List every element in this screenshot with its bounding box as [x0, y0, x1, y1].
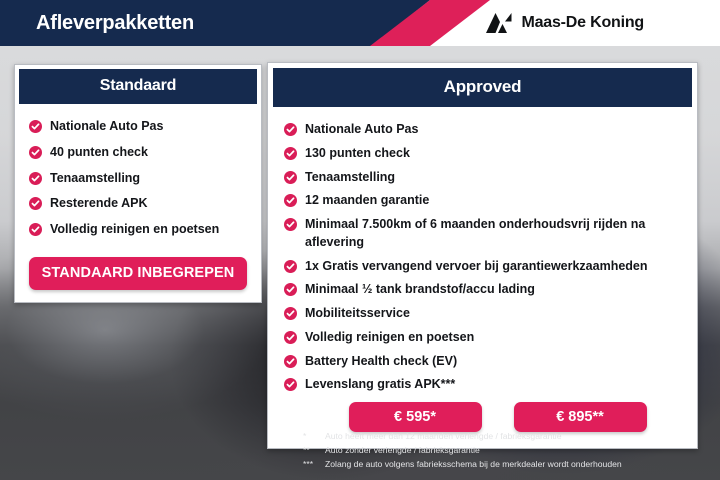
footnote-text: Zolang de auto volgens fabrieksschema bi…: [325, 458, 622, 472]
feature-list-item: Battery Health check (EV): [284, 353, 681, 371]
check-circle-icon: [29, 146, 42, 159]
footnote-row: *Auto heeft meer dan 12 maanden verlengd…: [303, 430, 703, 444]
feature-list-item: Mobiliteitsservice: [284, 305, 681, 323]
feature-label: Minimaal ½ tank brandstof/accu lading: [305, 281, 535, 299]
approved-card-title: Approved: [273, 68, 692, 107]
feature-list-item: Volledig reinigen en poetsen: [29, 221, 247, 239]
footnote-text: Auto heeft meer dan 12 maanden verlengde…: [325, 430, 561, 444]
feature-label: 130 punten check: [305, 145, 410, 163]
page-root: Afleverpakketten Maas-De Koning Standaar…: [0, 0, 720, 480]
check-circle-icon: [284, 171, 297, 184]
footnote-marker: **: [303, 444, 325, 458]
footnotes-block: *Auto heeft meer dan 12 maanden verlengd…: [303, 430, 703, 472]
price-button[interactable]: € 595*: [349, 402, 482, 432]
feature-label: Battery Health check (EV): [305, 353, 457, 371]
check-circle-icon: [284, 283, 297, 296]
feature-label: 40 punten check: [50, 144, 148, 162]
approved-package-card: Approved Nationale Auto Pas130 punten ch…: [267, 62, 698, 449]
check-circle-icon: [284, 378, 297, 391]
footnote-marker: ***: [303, 458, 325, 472]
feature-label: Mobiliteitsservice: [305, 305, 410, 323]
footnote-text: Auto zonder verlengde / fabrieksgarantie: [325, 444, 480, 458]
check-circle-icon: [284, 307, 297, 320]
brand-logo: Maas-De Koning: [486, 0, 644, 46]
check-circle-icon: [284, 218, 297, 231]
standard-included-button[interactable]: STANDAARD INBEGREPEN: [29, 257, 247, 290]
brand-name: Maas-De Koning: [521, 14, 644, 32]
page-title: Afleverpakketten: [36, 0, 194, 46]
footnote-row: ***Zolang de auto volgens fabrieksschema…: [303, 458, 703, 472]
feature-label: Minimaal 7.500km of 6 maanden onderhouds…: [305, 216, 681, 252]
feature-list-item: Minimaal 7.500km of 6 maanden onderhouds…: [284, 216, 681, 252]
feature-list-item: Minimaal ½ tank brandstof/accu lading: [284, 281, 681, 299]
price-button[interactable]: € 895**: [514, 402, 647, 432]
check-circle-icon: [284, 123, 297, 136]
feature-list-item: Resterende APK: [29, 195, 247, 213]
feature-label: Tenaamstelling: [50, 170, 140, 188]
feature-label: Volledig reinigen en poetsen: [50, 221, 219, 239]
feature-list-item: Tenaamstelling: [29, 170, 247, 188]
approved-feature-list: Nationale Auto Pas130 punten checkTenaam…: [284, 121, 681, 394]
standard-card-body: Nationale Auto Pas40 punten checkTenaams…: [15, 104, 261, 302]
feature-list-item: 12 maanden garantie: [284, 192, 681, 210]
footnote-row: **Auto zonder verlengde / fabrieksgarant…: [303, 444, 703, 458]
check-circle-icon: [284, 331, 297, 344]
approved-card-body: Nationale Auto Pas130 punten checkTenaam…: [268, 107, 697, 448]
approved-price-row: € 595*€ 895**: [284, 402, 681, 432]
check-circle-icon: [29, 172, 42, 185]
feature-label: 12 maanden garantie: [305, 192, 429, 210]
feature-label: Volledig reinigen en poetsen: [305, 329, 474, 347]
check-circle-icon: [29, 120, 42, 133]
feature-list-item: 130 punten check: [284, 145, 681, 163]
check-circle-icon: [29, 197, 42, 210]
footnote-marker: *: [303, 430, 325, 444]
feature-label: Resterende APK: [50, 195, 148, 213]
feature-list-item: 40 punten check: [29, 144, 247, 162]
feature-list-item: Nationale Auto Pas: [284, 121, 681, 139]
feature-label: Levenslang gratis APK***: [305, 376, 455, 394]
feature-label: 1x Gratis vervangend vervoer bij garanti…: [305, 258, 648, 276]
check-circle-icon: [284, 260, 297, 273]
check-circle-icon: [29, 223, 42, 236]
feature-label: Nationale Auto Pas: [305, 121, 418, 139]
standard-package-card: Standaard Nationale Auto Pas40 punten ch…: [14, 64, 262, 303]
feature-list-item: Nationale Auto Pas: [29, 118, 247, 136]
feature-label: Nationale Auto Pas: [50, 118, 163, 136]
maas-de-koning-m-logo-icon: [486, 13, 512, 33]
check-circle-icon: [284, 194, 297, 207]
page-header: Afleverpakketten Maas-De Koning: [0, 0, 720, 46]
feature-label: Tenaamstelling: [305, 169, 395, 187]
check-circle-icon: [284, 147, 297, 160]
feature-list-item: Volledig reinigen en poetsen: [284, 329, 681, 347]
check-circle-icon: [284, 355, 297, 368]
feature-list-item: Tenaamstelling: [284, 169, 681, 187]
standard-card-title: Standaard: [19, 69, 257, 104]
feature-list-item: 1x Gratis vervangend vervoer bij garanti…: [284, 258, 681, 276]
feature-list-item: Levenslang gratis APK***: [284, 376, 681, 394]
standard-feature-list: Nationale Auto Pas40 punten checkTenaams…: [29, 118, 247, 239]
